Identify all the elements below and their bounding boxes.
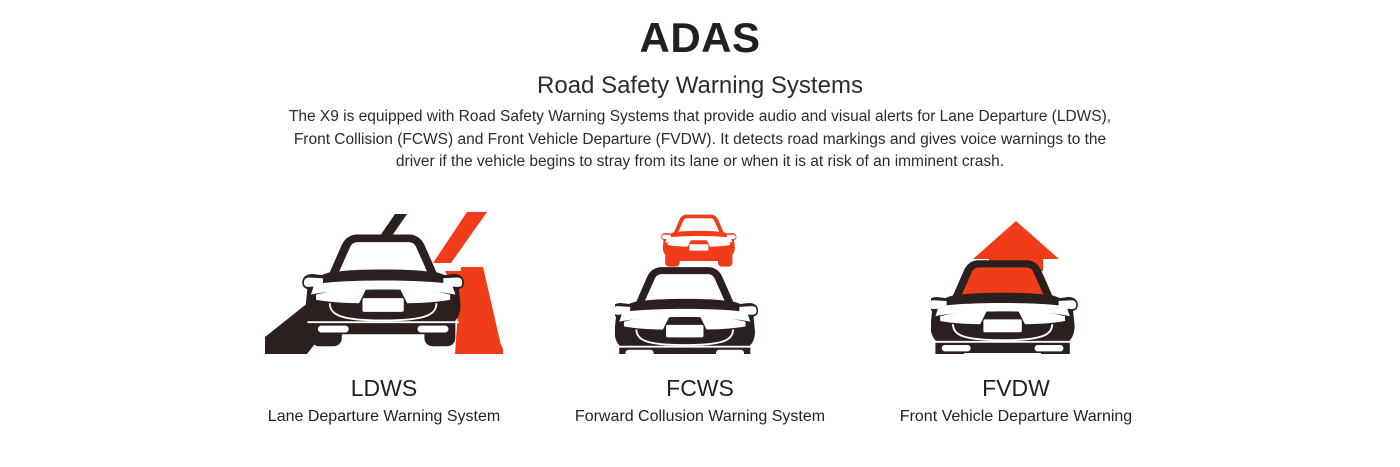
feature-list: LDWS Lane Departure Warning System: [0, 206, 1400, 426]
feature-abbr: FCWS: [666, 376, 734, 401]
feature-fvdw[interactable]: FVDW Front Vehicle Departure Warning: [858, 206, 1174, 426]
feature-fcws[interactable]: FCWS Forward Collusion Warning System: [542, 206, 858, 426]
feature-description: Lane Departure Warning System: [268, 407, 500, 426]
feature-description: Forward Collusion Warning System: [575, 407, 825, 426]
feature-ldws[interactable]: LDWS Lane Departure Warning System: [226, 206, 542, 426]
page-description: The X9 is equipped with Road Safety Warn…: [285, 106, 1115, 173]
car-front-vehicle-departure-icon: [931, 206, 1101, 354]
car-lane-departure-icon: [255, 206, 513, 354]
page-subtitle: Road Safety Warning Systems: [0, 70, 1400, 102]
feature-description: Front Vehicle Departure Warning: [900, 407, 1132, 426]
page-header: ADAS Road Safety Warning Systems The X9 …: [0, 0, 1400, 174]
adas-page: ADAS Road Safety Warning Systems The X9 …: [0, 0, 1400, 467]
car-forward-collision-icon: [615, 206, 785, 354]
feature-abbr: FVDW: [982, 376, 1050, 401]
feature-abbr: LDWS: [351, 376, 417, 401]
page-title: ADAS: [0, 14, 1400, 61]
